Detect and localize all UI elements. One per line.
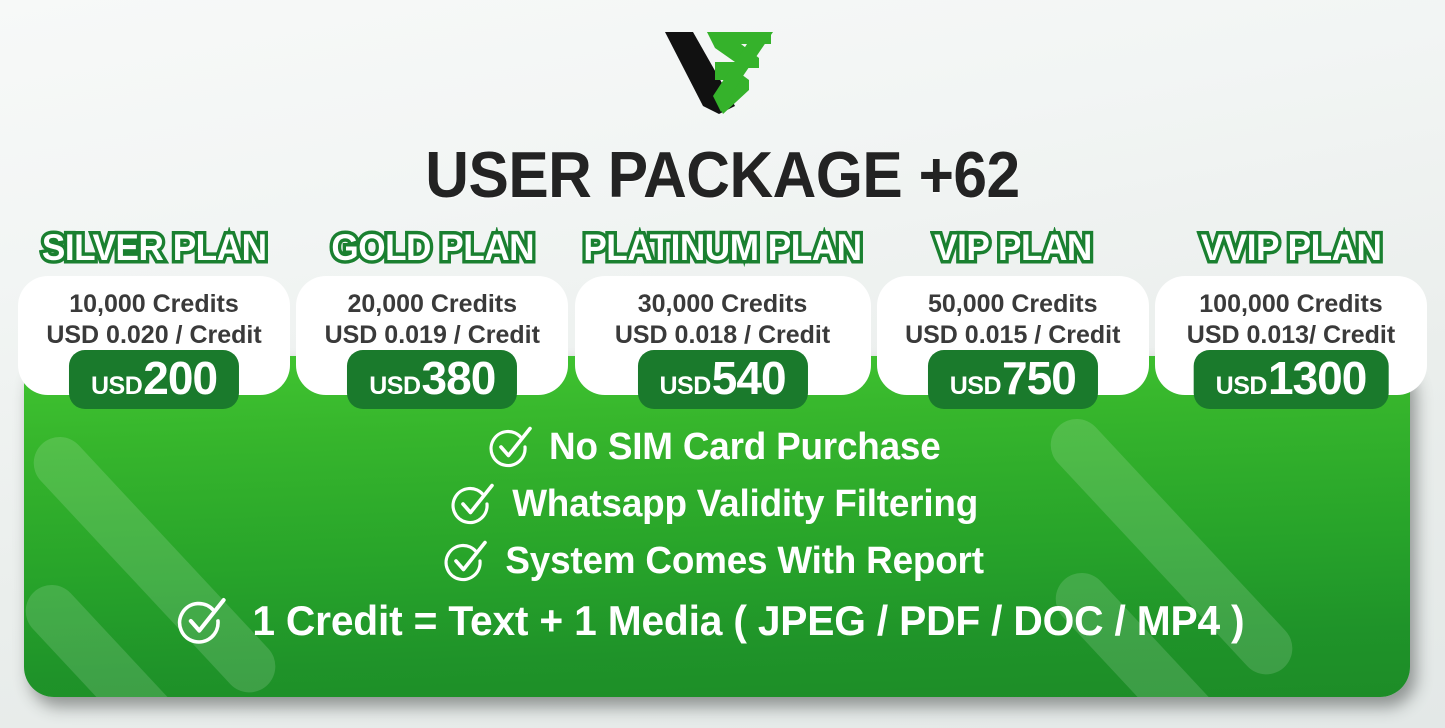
check-circle-icon (175, 595, 227, 647)
feature-list: No SIM Card Purchase Whatsapp Validity F… (24, 424, 1410, 658)
plan-title: SILVER PLAN (42, 226, 267, 270)
feature-item: 1 Credit = Text + 1 Media ( JPEG / PDF /… (175, 595, 1260, 647)
page-title: USER PACKAGE +62 (51, 136, 1395, 214)
feature-label: Whatsapp Validity Filtering (512, 481, 978, 527)
plan-details: 100,000 Credits USD 0.013/ Credit USD 13… (1155, 276, 1427, 395)
brand-logo (0, 14, 1445, 124)
plan-card-vip[interactable]: VIP PLAN 50,000 Credits USD 0.015 / Cred… (877, 226, 1149, 395)
plan-rate: USD 0.020 / Credit (26, 320, 282, 351)
price-currency: USD (1216, 372, 1267, 401)
feature-item: System Comes With Report (442, 538, 991, 584)
plan-details: 50,000 Credits USD 0.015 / Credit USD 75… (877, 276, 1149, 395)
plan-credits: 20,000 Credits (304, 289, 560, 320)
feature-label: System Comes With Report (506, 538, 984, 584)
feature-item: No SIM Card Purchase (487, 424, 947, 470)
check-circle-icon (449, 481, 495, 527)
plan-details: 20,000 Credits USD 0.019 / Credit USD 38… (296, 276, 568, 395)
feature-label: 1 Credit = Text + 1 Media ( JPEG / PDF /… (252, 596, 1244, 646)
plan-title: VIP PLAN (934, 226, 1092, 270)
plan-card-silver[interactable]: SILVER PLAN 10,000 Credits USD 0.020 / C… (18, 226, 290, 395)
plan-title: PLATINUM PLAN (583, 226, 861, 270)
price-amount: 1300 (1268, 354, 1366, 402)
check-circle-icon (442, 538, 488, 584)
price-amount: 380 (422, 354, 496, 402)
price-currency: USD (91, 372, 142, 401)
plan-rate: USD 0.013/ Credit (1163, 320, 1419, 351)
plan-details: 10,000 Credits USD 0.020 / Credit USD 20… (18, 276, 290, 395)
price-amount: 750 (1002, 354, 1076, 402)
price-currency: USD (369, 372, 420, 401)
feature-label: No SIM Card Purchase (549, 424, 940, 470)
feature-item: Whatsapp Validity Filtering (449, 481, 985, 527)
plan-rate: USD 0.018 / Credit (583, 320, 863, 351)
plan-credits: 10,000 Credits (26, 289, 282, 320)
plan-price-badge[interactable]: USD 1300 (1194, 350, 1389, 409)
v3-logo-icon (663, 14, 783, 114)
plan-rate: USD 0.019 / Credit (304, 320, 560, 351)
plan-title: VVIP PLAN (1201, 226, 1382, 270)
price-amount: 540 (712, 354, 786, 402)
plan-title: GOLD PLAN (331, 226, 534, 270)
price-amount: 200 (143, 354, 217, 402)
plan-card-vvip[interactable]: VVIP PLAN 100,000 Credits USD 0.013/ Cre… (1155, 226, 1427, 395)
price-currency: USD (950, 372, 1001, 401)
plan-price-badge[interactable]: USD 380 (347, 350, 517, 409)
plan-card-platinum[interactable]: PLATINUM PLAN 30,000 Credits USD 0.018 /… (575, 226, 871, 395)
plan-price-badge[interactable]: USD 750 (928, 350, 1098, 409)
plan-rate: USD 0.015 / Credit (885, 320, 1141, 351)
plan-credits: 30,000 Credits (583, 289, 863, 320)
plan-details: 30,000 Credits USD 0.018 / Credit USD 54… (575, 276, 871, 395)
price-currency: USD (659, 372, 710, 401)
plan-credits: 100,000 Credits (1163, 289, 1419, 320)
pricing-plan-row: SILVER PLAN 10,000 Credits USD 0.020 / C… (18, 226, 1427, 406)
check-circle-icon (487, 424, 533, 470)
plan-price-badge[interactable]: USD 200 (69, 350, 239, 409)
plan-price-badge[interactable]: USD 540 (637, 350, 807, 409)
plan-card-gold[interactable]: GOLD PLAN 20,000 Credits USD 0.019 / Cre… (296, 226, 568, 395)
plan-credits: 50,000 Credits (885, 289, 1141, 320)
